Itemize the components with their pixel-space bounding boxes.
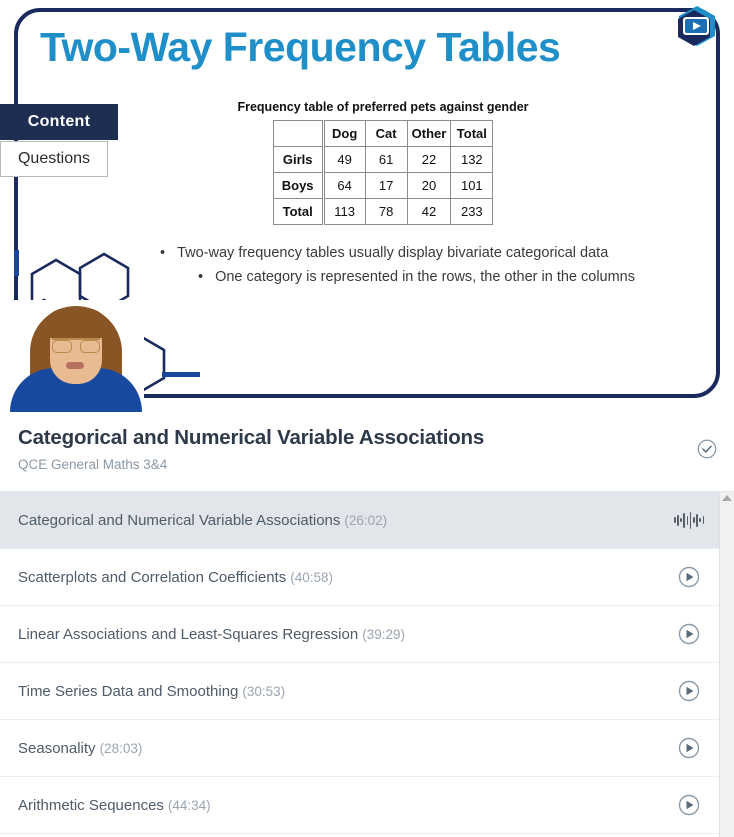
play-circle-icon[interactable] [677,622,701,646]
tab-content[interactable]: Content [0,104,118,140]
tab-questions-label: Questions [18,150,90,168]
bullet-text: One category is represented in the rows,… [215,269,635,285]
bullet-text: Two-way frequency tables usually display… [177,245,608,261]
table-rowhead-total: Total [273,199,323,225]
list-item-duration: (44:34) [168,798,211,813]
lesson-player-app: Two-Way Frequency Tables [0,0,734,837]
list-item-title: Seasonality [18,740,96,757]
bullet-item: • Two-way frequency tables usually displ… [150,245,695,261]
table-corner-cell [273,121,323,147]
play-circle-icon[interactable] [677,736,701,760]
table-rowhead-girls: Girls [273,147,323,173]
list-item-text: Categorical and Numerical Variable Assoc… [18,512,677,529]
lesson-list[interactable]: Categorical and Numerical Variable Assoc… [0,492,734,837]
cell-boys-total: 101 [451,173,493,199]
slide-title: Two-Way Frequency Tables [40,24,560,71]
cell-boys-other: 20 [407,173,451,199]
cell-girls-other: 22 [407,147,451,173]
list-item-text: Scatterplots and Correlation Coefficient… [18,569,677,586]
list-item-text: Seasonality(28:03) [18,740,677,757]
play-circle-icon[interactable] [677,793,701,817]
list-scrollbar[interactable] [719,492,734,837]
slide-side-tabs: Content Questions [0,104,118,177]
bullet-item: • One category is represented in the row… [150,269,695,285]
bullet-marker-icon: • [160,245,165,261]
list-item-text: Time Series Data and Smoothing(30:53) [18,683,677,700]
presenter-video[interactable] [8,300,144,412]
list-item-duration: (30:53) [242,684,285,699]
course-subtitle: QCE General Maths 3&4 [18,457,716,472]
cell-girls-dog: 49 [323,147,365,173]
cell-total-cat: 78 [365,199,407,225]
presenter-mouth [66,362,84,369]
list-item-text: Arithmetic Sequences(44:34) [18,797,677,814]
tab-questions[interactable]: Questions [0,141,108,177]
tab-content-label: Content [28,113,91,131]
list-item-duration: (39:29) [362,627,405,642]
list-item-text: Linear Associations and Least-Squares Re… [18,626,677,643]
table-col-dog: Dog [323,121,365,147]
list-item-title: Arithmetic Sequences [18,797,164,814]
lesson-list-viewport: Categorical and Numerical Variable Assoc… [0,492,719,837]
cell-boys-dog: 64 [323,173,365,199]
cell-girls-cat: 61 [365,147,407,173]
lesson-header: Categorical and Numerical Variable Assoc… [0,414,734,492]
table-header-row: Dog Cat Other Total [273,121,493,147]
table-col-total: Total [451,121,493,147]
list-item-title: Categorical and Numerical Variable Assoc… [18,512,340,529]
cell-total-other: 42 [407,199,451,225]
play-circle-icon[interactable] [677,679,701,703]
audio-waveform-icon[interactable] [677,508,701,532]
scroll-up-arrow-icon[interactable] [722,495,732,501]
list-item[interactable]: Time Series Data and Smoothing(30:53) [0,663,719,720]
list-item[interactable]: Arithmetic Sequences(44:34) [0,777,719,834]
table-row: Boys 64 17 20 101 [273,173,493,199]
presenter-hair-top [42,308,110,338]
list-item[interactable]: Linear Associations and Least-Squares Re… [0,606,719,663]
list-item-duration: (26:02) [344,513,387,528]
table-col-other: Other [407,121,451,147]
slide-video-area[interactable]: Two-Way Frequency Tables [0,0,734,414]
table-col-cat: Cat [365,121,407,147]
list-item[interactable]: Scatterplots and Correlation Coefficient… [0,549,719,606]
table-row: Girls 49 61 22 132 [273,147,493,173]
list-item-title: Scatterplots and Correlation Coefficient… [18,569,286,586]
cell-total-dog: 113 [323,199,365,225]
cell-boys-cat: 17 [365,173,407,199]
frequency-table: Dog Cat Other Total Girls 49 61 22 132 [273,120,494,225]
list-item-duration: (28:03) [100,741,143,756]
waveform-bars [674,511,704,529]
table-rowhead-boys: Boys [273,173,323,199]
page-title: Categorical and Numerical Variable Assoc… [18,426,716,450]
list-item[interactable]: Categorical and Numerical Variable Assoc… [0,492,719,549]
slide-bullet-list: • Two-way frequency tables usually displ… [150,245,695,285]
list-item-duration: (40:58) [290,570,333,585]
list-item-title: Linear Associations and Least-Squares Re… [18,626,358,643]
list-item[interactable]: Seasonality(28:03) [0,720,719,777]
cell-girls-total: 132 [451,147,493,173]
list-item-title: Time Series Data and Smoothing [18,683,238,700]
check-circle-icon[interactable] [696,438,718,460]
cell-total-total: 233 [451,199,493,225]
bullet-marker-icon: • [198,269,203,285]
presenter-glasses [52,338,100,350]
frequency-table-caption: Frequency table of preferred pets agains… [228,100,538,114]
hexagon-play-logo-icon[interactable] [672,2,722,52]
frequency-table-block: Frequency table of preferred pets agains… [228,100,538,225]
table-row: Total 113 78 42 233 [273,199,493,225]
play-circle-icon[interactable] [677,565,701,589]
